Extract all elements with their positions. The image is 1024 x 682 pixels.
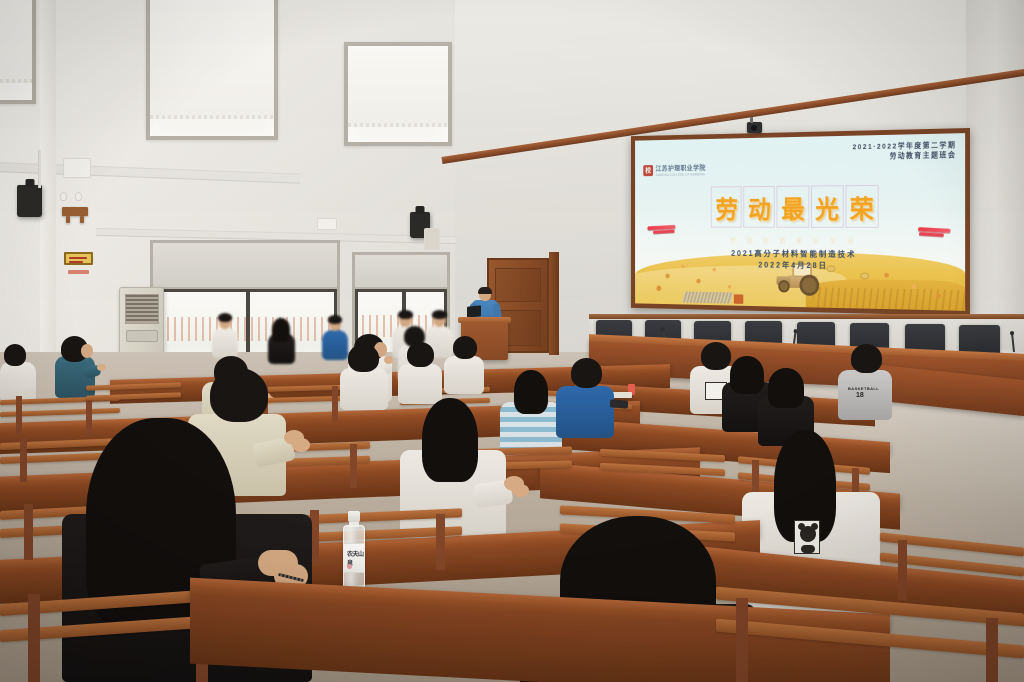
title-char-4: 光	[814, 190, 839, 226]
panda-tee-graphic	[794, 520, 820, 554]
bench-leg	[898, 540, 907, 600]
wall-hooks	[60, 192, 88, 204]
title-char-3: 最	[780, 190, 805, 225]
lower-window-left	[150, 240, 340, 350]
wall-speaker-icon	[17, 185, 42, 217]
audience-person	[556, 358, 614, 438]
water-bottle[interactable]: 农夫山泉	[343, 511, 365, 597]
logo-institution-name-sub: JIANGSU COLLEGE OF NURSING	[656, 173, 706, 177]
window-roller-blind-left	[153, 243, 337, 289]
screen-dot	[666, 273, 670, 278]
clerestory-window-3	[344, 42, 452, 146]
audience-person	[268, 318, 295, 364]
wall-pier-left	[40, 0, 56, 352]
clerestory-window-1	[0, 0, 36, 104]
screen-ribbon-left-2	[653, 230, 675, 234]
screen-dot	[912, 284, 917, 289]
screen-institution-logo: 校 江苏护理职业学院 JIANGSU COLLEGE OF NURSING	[643, 163, 705, 177]
ceiling-camera-icon	[747, 122, 762, 133]
screen-header: 2021·2022学年度第二学期 劳动教育主题班会	[853, 140, 957, 162]
screen-ghost-text: 劳 动 创 造 美 好 生 活	[678, 236, 915, 247]
fire-safety-sign-sub	[68, 270, 89, 274]
fire-safety-sign	[64, 252, 93, 265]
audience-person	[500, 370, 562, 458]
screen-implement-block	[734, 294, 743, 304]
screen-header-line-2: 劳动教育主题班会	[853, 151, 957, 163]
audience-person: BASKETBALL 18	[838, 344, 892, 420]
wall-bracket-leg-2	[80, 216, 84, 223]
screen-dot	[936, 293, 941, 298]
desk-phone[interactable]	[610, 399, 628, 408]
clerestory-window-2	[146, 0, 278, 140]
stage-rail	[589, 314, 1024, 319]
bench-leg	[24, 504, 33, 560]
wall-switch-plate	[317, 218, 337, 230]
audience-person	[444, 336, 484, 394]
screen-dot	[697, 279, 701, 284]
audience-person	[398, 342, 442, 404]
screen-dot	[656, 285, 661, 291]
bench-leg	[736, 598, 748, 682]
screen-field-rows	[813, 287, 965, 311]
bench-leg	[350, 444, 357, 488]
window-roller-blind-right	[355, 255, 447, 289]
lectern-top	[458, 317, 511, 323]
wall-bracket-leg-1	[66, 216, 70, 223]
bottle-label: 农夫山泉	[344, 543, 364, 573]
presenter-hair	[478, 287, 492, 294]
screen-dot	[884, 273, 889, 278]
bench-leg	[986, 618, 998, 682]
title-char-2: 动	[747, 191, 771, 226]
title-char-5: 荣	[849, 190, 875, 226]
screen-ribbon-right-2	[919, 232, 944, 236]
jersey-text: BASKETBALL	[848, 386, 879, 391]
screen-main-title: 劳动最光荣	[635, 189, 965, 226]
door-frame	[549, 252, 559, 355]
audience-person	[0, 344, 36, 402]
wall-plate	[63, 158, 91, 178]
window-glow-3	[348, 46, 448, 142]
title-char-1: 劳	[715, 191, 739, 226]
window-glow-2	[150, 0, 274, 136]
wall-box	[424, 228, 440, 250]
ac-control-panel[interactable]	[126, 330, 158, 342]
screen-subtitle: 2021高分子材料智能制造技术 2022年4月28日	[635, 248, 965, 275]
presenter-laptop[interactable]	[467, 305, 481, 317]
audience-person	[212, 312, 238, 358]
wall-conduit	[38, 150, 41, 188]
bench-leg	[16, 396, 22, 434]
bottle-cap[interactable]	[348, 511, 360, 522]
classroom-photo: 2021·2022学年度第二学期 劳动教育主题班会 校 江苏护理职业学院 JIA…	[0, 0, 1024, 682]
screen-haybale	[860, 272, 869, 279]
window-glass-left	[153, 289, 337, 353]
bench-leg	[332, 386, 338, 422]
jersey-number: 18	[856, 392, 864, 399]
logo-emblem-icon: 校	[643, 165, 653, 176]
bench-leg	[20, 438, 27, 482]
bench-leg	[28, 594, 40, 682]
screen-surface: 2021·2022学年度第二学期 劳动教育主题班会 校 江苏护理职业学院 JIA…	[635, 133, 965, 311]
window-glow-1	[0, 0, 32, 100]
outdoor-fence-left	[153, 317, 337, 341]
wall-wood-bracket	[62, 207, 88, 216]
led-presentation-screen[interactable]: 2021·2022学年度第二学期 劳动教育主题班会 校 江苏护理职业学院 JIA…	[631, 128, 970, 316]
screen-implement-illustration	[681, 292, 733, 304]
audience-person	[340, 344, 388, 410]
bench-leg	[436, 514, 445, 570]
ac-grille	[125, 294, 159, 324]
